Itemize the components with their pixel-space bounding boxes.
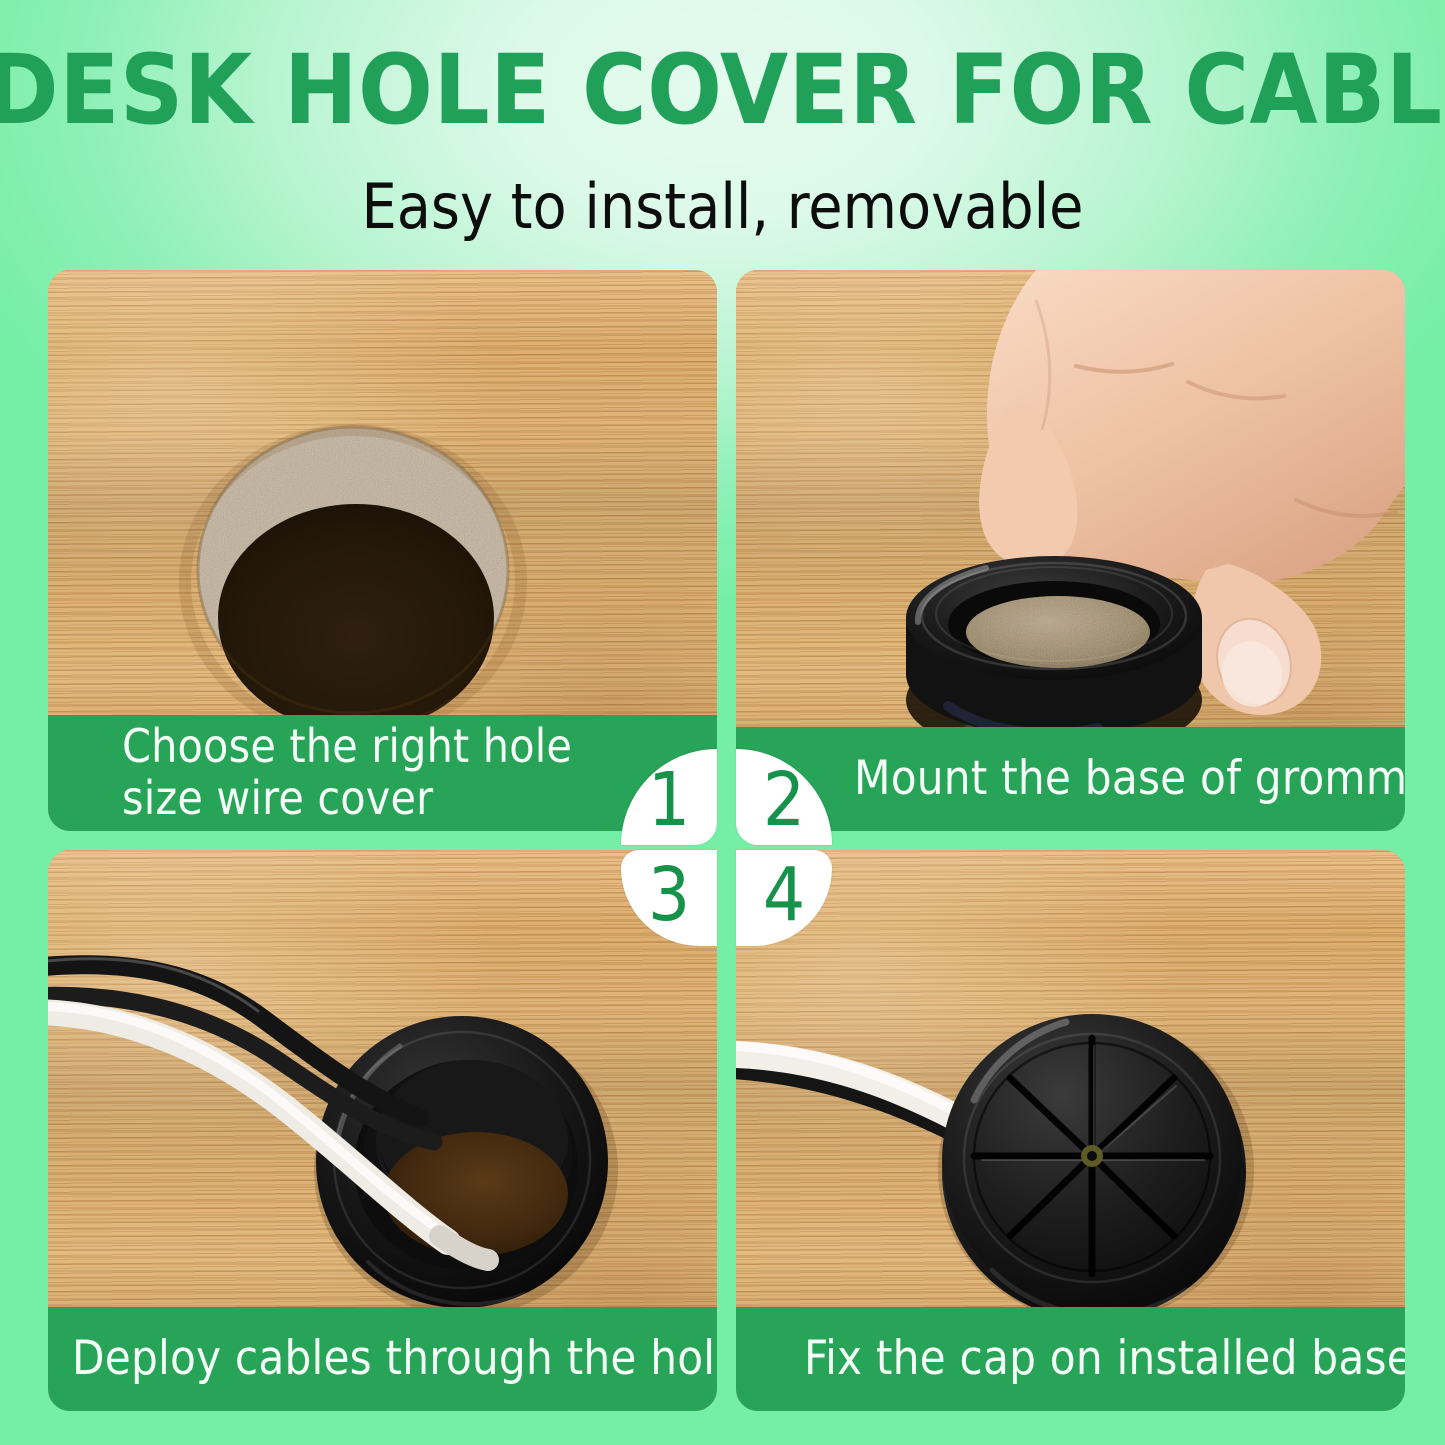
step-panel-4: Fix the cap on installed base — [736, 850, 1405, 1411]
step-2-caption-line-1: Mount the base of grommet — [854, 753, 1405, 806]
step-1-caption-line-1: Choose the right hole — [122, 721, 717, 773]
step-1-caption: Choose the right hole size wire cover — [48, 715, 717, 831]
step-number-4: 4 — [763, 852, 805, 938]
step-number-1: 1 — [648, 757, 690, 843]
step-panel-1: Choose the right hole size wire cover — [48, 270, 717, 831]
page-subtitle: Easy to install, removable — [0, 176, 1445, 238]
step-panel-3: Deploy cables through the hole — [48, 850, 717, 1411]
product-infographic: DESK HOLE COVER FOR CABLES Easy to insta… — [0, 0, 1445, 1445]
grommet-cap — [942, 1014, 1246, 1320]
page-title: DESK HOLE COVER FOR CABLES — [0, 42, 1445, 138]
cables — [48, 959, 488, 1260]
step-4-caption-line-1: Fix the cap on installed base — [804, 1333, 1405, 1386]
step-number-2: 2 — [763, 757, 805, 843]
step-3-caption: Deploy cables through the hole — [48, 1307, 717, 1411]
step-number-3: 3 — [648, 852, 690, 938]
step-4-caption: Fix the cap on installed base — [736, 1307, 1405, 1411]
step-2-caption: Mount the base of grommet — [736, 727, 1405, 831]
step-panel-2: Mount the base of grommet — [736, 270, 1405, 831]
step-3-caption-line-1: Deploy cables through the hole — [72, 1333, 717, 1386]
